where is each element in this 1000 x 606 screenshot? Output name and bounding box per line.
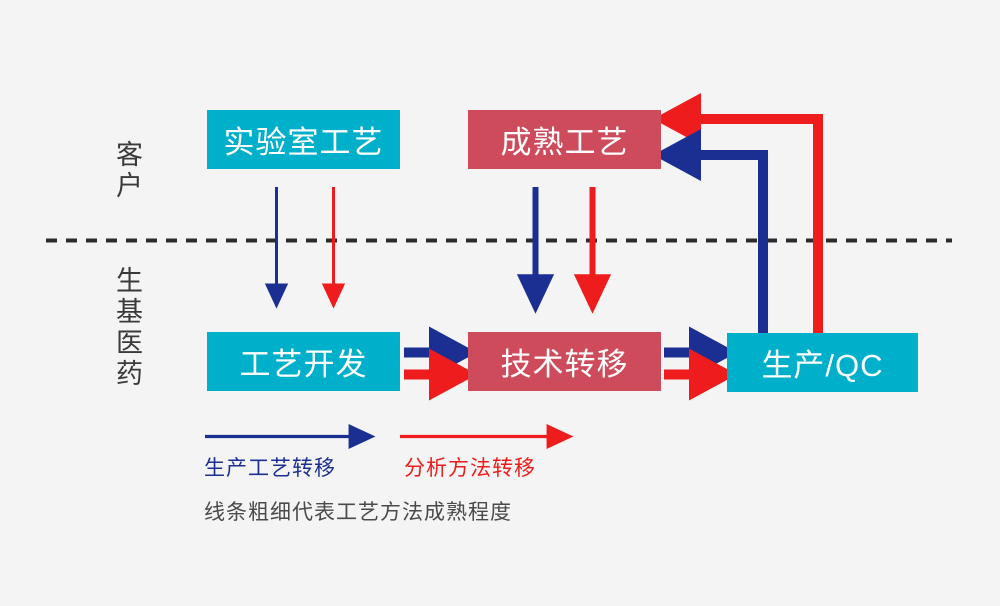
box-production-qc[interactable]: 生产/QC (727, 333, 918, 392)
legend-label-process-transfer: 生产工艺转移 (204, 452, 336, 482)
legend-label-analytics-transfer: 分析方法转移 (404, 452, 536, 482)
lane-label-company: 生基医药 (104, 266, 144, 390)
box-mature-process-label: 成熟工艺 (501, 117, 629, 162)
box-process-development-label: 工艺开发 (240, 339, 368, 384)
box-lab-process[interactable]: 实验室工艺 (207, 110, 400, 169)
legend-note-line-weight: 线条粗细代表工艺方法成熟程度 (204, 496, 512, 526)
box-mature-process[interactable]: 成熟工艺 (468, 110, 661, 169)
box-production-qc-label: 生产/QC (761, 340, 883, 385)
diagram-canvas: 客户 生基医药 实验室工艺 成熟工艺 工艺开发 技术转移 生产/QC 生产工艺转… (0, 0, 1000, 606)
box-lab-process-label: 实验室工艺 (224, 117, 384, 162)
box-tech-transfer-label: 技术转移 (501, 339, 629, 384)
arrow-production-to-mature-blue (677, 155, 763, 335)
lane-label-customer: 客户 (104, 140, 144, 202)
box-process-development[interactable]: 工艺开发 (207, 332, 400, 391)
box-tech-transfer[interactable]: 技术转移 (468, 332, 661, 391)
